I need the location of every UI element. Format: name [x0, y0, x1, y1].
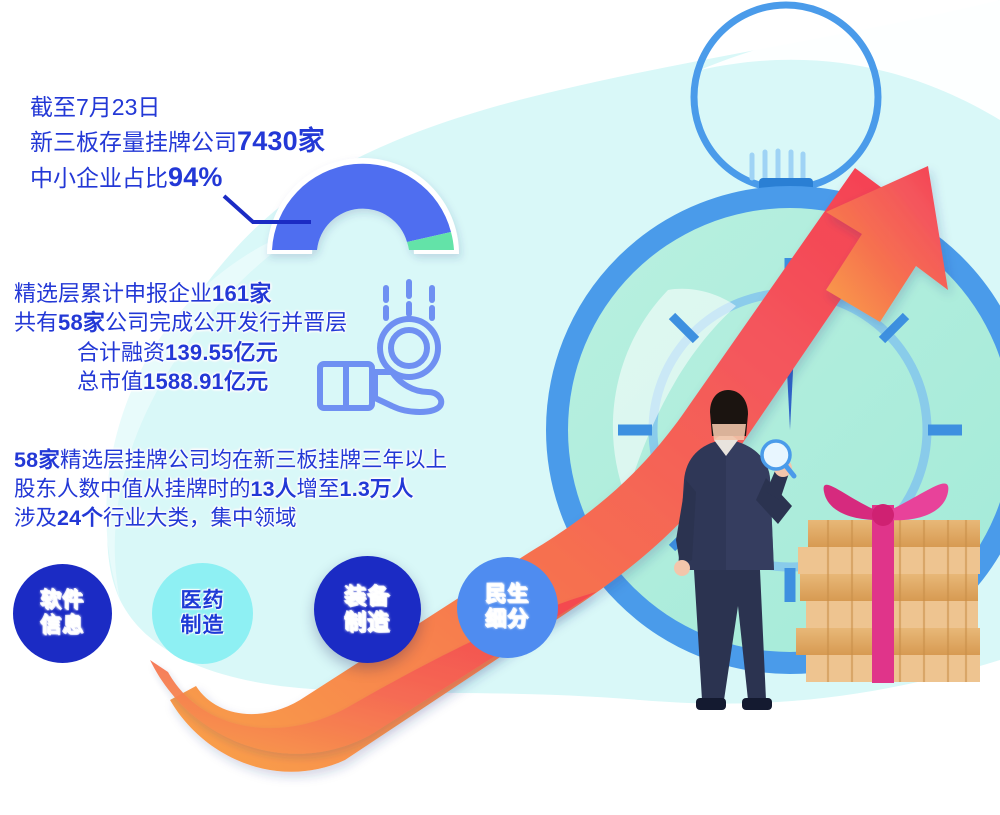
- block2-line2-prefix: 共有: [14, 310, 58, 335]
- block1-line2: 新三板存量挂牌公司7430家: [30, 123, 325, 159]
- block2-line2: 共有58家公司完成公开发行并晋层: [14, 308, 347, 337]
- block1-line1: 截至7月23日: [30, 92, 325, 123]
- block3-line2-prefix: 股东人数中值从挂牌时的: [14, 477, 251, 501]
- block3-line2-value-b: 1.3万人: [340, 477, 414, 501]
- block2-line3-prefix: 合计融资: [77, 340, 165, 365]
- block3-line1-suffix: 精选层挂牌公司均在新三板挂牌三年以上: [60, 448, 447, 472]
- stat-block-shareholders: 58家精选层挂牌公司均在新三板挂牌三年以上 股东人数中值从挂牌时的13人增至1.…: [14, 446, 447, 532]
- bubble-2-line2: 制造: [344, 610, 390, 636]
- block3-line2: 股东人数中值从挂牌时的13人增至1.3万人: [14, 475, 447, 504]
- block1-line3: 中小企业占比94%: [30, 159, 325, 195]
- bubble-0-line2: 信息: [41, 614, 85, 638]
- block3-line3-value: 24个: [57, 506, 103, 530]
- block2-line1: 精选层累计申报企业161家: [14, 279, 347, 308]
- block2-line1-value: 161家: [212, 281, 272, 306]
- block2-line4-prefix: 总市值: [77, 369, 143, 394]
- infographic-canvas: 截至7月23日 新三板存量挂牌公司7430家 中小企业占比94% 精选层累计申报…: [0, 0, 1000, 815]
- block3-line3-prefix: 涉及: [14, 506, 57, 530]
- block3-line1: 58家精选层挂牌公司均在新三板挂牌三年以上: [14, 446, 447, 475]
- block1-line2-value: 7430家: [237, 126, 325, 156]
- block2-line3: 合计融资139.55亿元: [14, 338, 347, 367]
- stat-block-listed-companies: 截至7月23日 新三板存量挂牌公司7430家 中小企业占比94%: [30, 92, 325, 195]
- bubble-1-line1: 医药: [181, 589, 225, 613]
- block3-line2-value-a: 13人: [251, 477, 297, 501]
- block3-line2-mid: 增至: [297, 477, 340, 501]
- block3-line3: 涉及24个行业大类，集中领域: [14, 504, 447, 533]
- block1-line2-prefix: 新三板存量挂牌公司: [30, 129, 237, 155]
- block2-line2-suffix: 公司完成公开发行并晋层: [105, 310, 347, 335]
- block1-line3-prefix: 中小企业占比: [30, 165, 168, 191]
- bubble-2-line1: 装备: [344, 584, 390, 610]
- block1-line3-value: 94%: [168, 162, 223, 192]
- category-bubble-software-info[interactable]: 软件 信息: [13, 564, 112, 663]
- block2-line4: 总市值1588.91亿元: [14, 367, 347, 396]
- bubble-3-line1: 民生: [486, 583, 530, 607]
- category-bubble-livelihood-segments[interactable]: 民生 细分: [457, 557, 558, 658]
- bubble-1-line2: 制造: [181, 614, 225, 638]
- block2-line4-value: 1588.91亿元: [143, 369, 268, 394]
- category-bubble-pharma-manufacturing[interactable]: 医药 制造: [152, 563, 253, 664]
- block3-line1-value: 58家: [14, 448, 60, 472]
- stat-block-select-tier: 精选层累计申报企业161家 共有58家公司完成公开发行并晋层 合计融资139.5…: [14, 279, 347, 397]
- block2-line3-value: 139.55亿元: [165, 340, 278, 365]
- block2-line1-prefix: 精选层累计申报企业: [14, 281, 212, 306]
- bubble-0-line1: 软件: [41, 589, 85, 613]
- block2-line2-value: 58家: [58, 310, 105, 335]
- category-bubble-equipment-manufacturing[interactable]: 装备 制造: [314, 556, 421, 663]
- block3-line3-suffix: 行业大类，集中领域: [103, 506, 297, 530]
- bubble-3-line2: 细分: [486, 608, 530, 632]
